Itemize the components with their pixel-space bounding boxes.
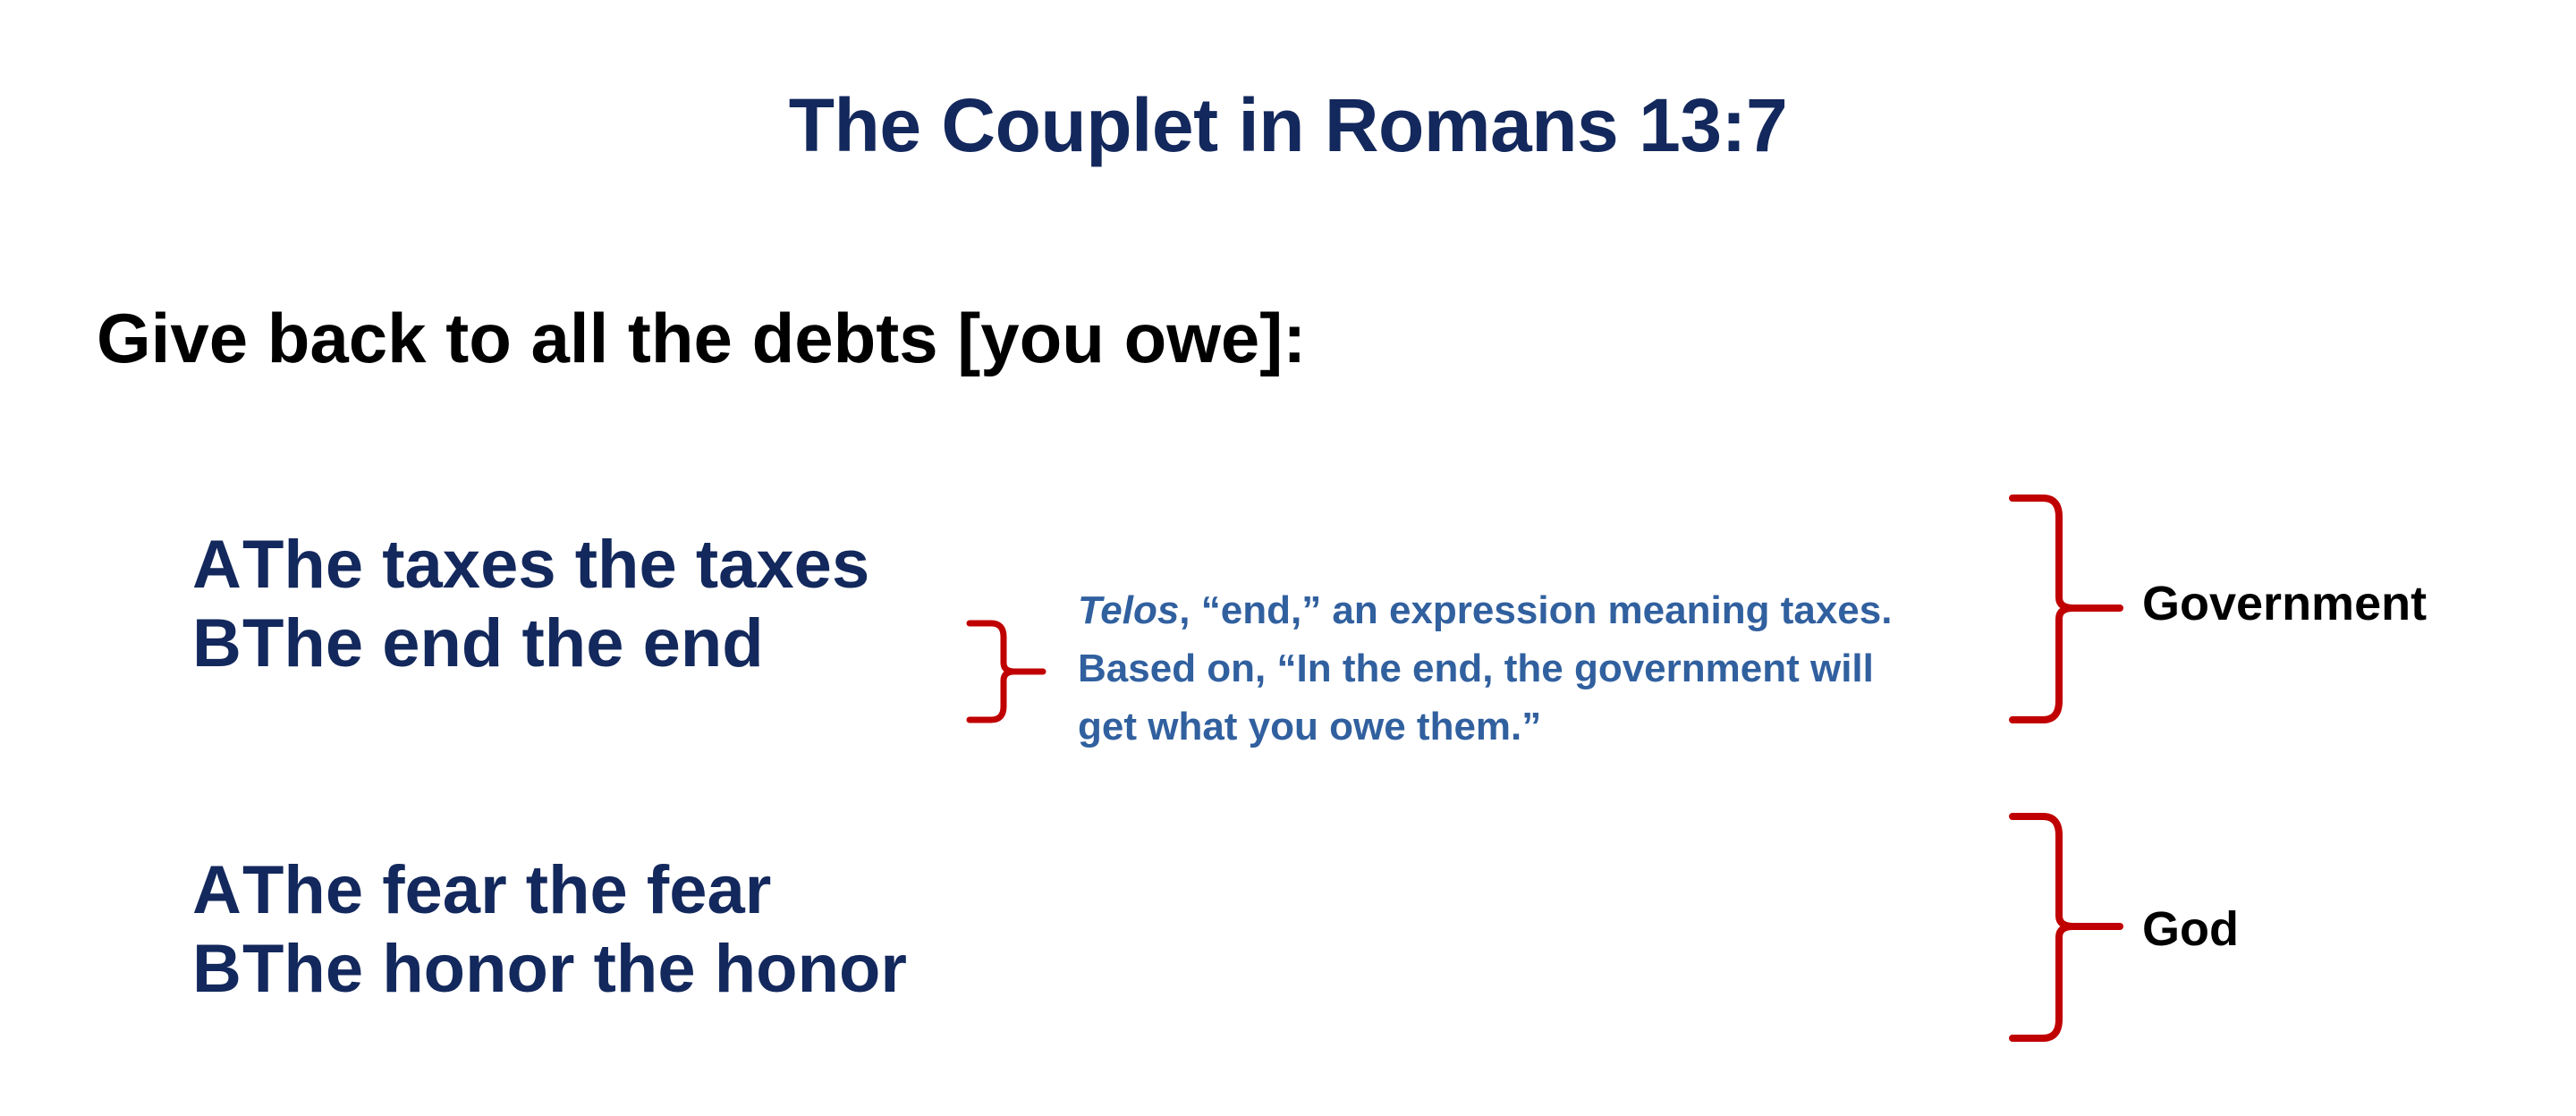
couplet-line: BThe end the end: [192, 604, 869, 683]
couplet-text-b: The honor the honor: [242, 931, 907, 1007]
couplet-text-a: The taxes the taxes: [242, 527, 869, 603]
note-term-telos: Telos: [1078, 588, 1179, 632]
bracket-label-government: Government: [2142, 579, 2427, 628]
couplet-marker-a: A: [192, 526, 242, 604]
couplet-god: AThe fear the fear BThe honor the honor: [192, 851, 907, 1009]
page-title: The Couplet in Romans 13:7: [0, 86, 2576, 165]
slide-canvas: The Couplet in Romans 13:7 Give back to …: [0, 0, 2576, 1116]
couplet-marker-b: B: [192, 604, 242, 683]
lead-statement: Give back to all the debts [you owe]:: [97, 302, 1306, 376]
couplet-government: AThe taxes the taxes BThe end the end: [192, 526, 869, 683]
couplet-marker-a: A: [192, 851, 242, 930]
government-brace-icon: [2007, 494, 2123, 724]
couplet-text-a: The fear the fear: [242, 852, 771, 928]
god-brace-icon: [2007, 812, 2123, 1043]
couplet-text-b: The end the end: [242, 605, 764, 681]
couplet-marker-b: B: [192, 930, 242, 1009]
note-body: , “end,” an expression meaning taxes. Ba…: [1078, 588, 1892, 748]
note-brace-icon: [964, 619, 1046, 724]
telos-explanation-note: Telos, “end,” an expression meaning taxe…: [1078, 581, 1901, 756]
couplet-line: AThe taxes the taxes: [192, 526, 869, 604]
bracket-label-god: God: [2142, 905, 2239, 953]
couplet-line: BThe honor the honor: [192, 930, 907, 1009]
couplet-line: AThe fear the fear: [192, 851, 907, 930]
